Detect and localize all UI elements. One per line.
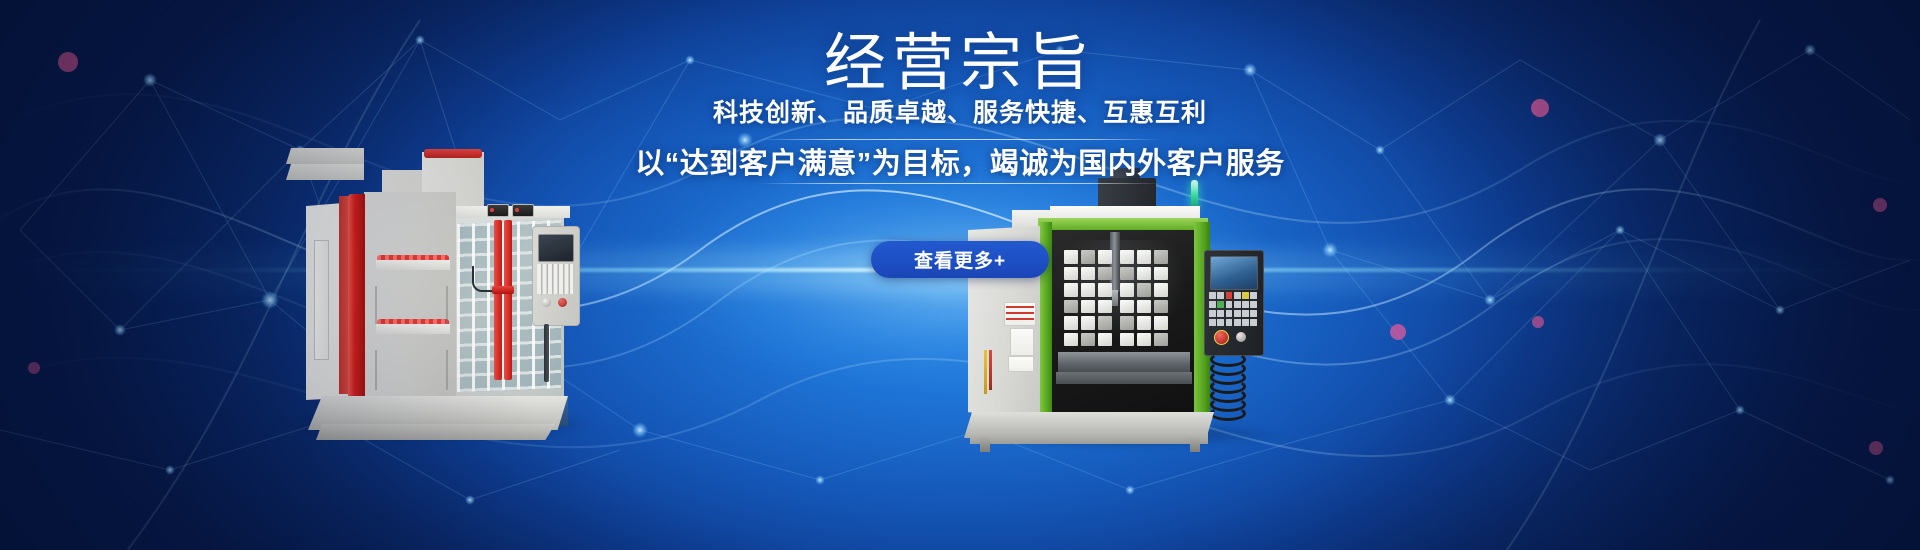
hero-banner: 经营宗旨 科技创新、品质卓越、服务快捷、互惠互利 以“达到客户满意”为目标，竭诚… — [0, 0, 1920, 550]
tool-cell — [1081, 250, 1095, 264]
tool-cell — [1064, 300, 1078, 314]
tool-cell — [1064, 333, 1078, 347]
machine-tool-rack-left — [1064, 250, 1112, 346]
keypad-key — [1209, 319, 1216, 326]
machine-enclosure-top — [452, 206, 570, 218]
tool-cell — [1081, 333, 1095, 347]
machine-panel-seam — [375, 350, 377, 390]
keypad-key — [1250, 310, 1257, 317]
tool-cell — [1137, 283, 1151, 297]
tool-cell — [1137, 250, 1151, 264]
tool-cell — [1137, 300, 1151, 314]
keypad-key — [1234, 301, 1241, 308]
tool-cell — [1120, 316, 1134, 330]
machine-warning-label-1 — [1004, 302, 1036, 326]
indicator-dot — [490, 208, 494, 212]
machine-base-plinth — [316, 424, 560, 440]
keypad-key — [1217, 310, 1224, 317]
tool-cell — [1098, 300, 1112, 314]
machine-front-face — [364, 192, 456, 398]
banner-title: 经营宗旨 — [660, 30, 1260, 98]
tool-cell — [1064, 267, 1078, 281]
machine-warning-label-2 — [1008, 356, 1034, 372]
machine-shelf-lower-front — [286, 164, 364, 180]
tool-cell — [1098, 333, 1112, 347]
keypad-key — [1217, 319, 1224, 326]
machine-green-frame-top — [1038, 218, 1208, 230]
tool-cell — [1137, 316, 1151, 330]
machine-emergency-stop — [558, 298, 567, 307]
tool-cell — [1081, 267, 1095, 281]
divider-top — [758, 139, 1162, 140]
tool-cell — [1081, 300, 1095, 314]
cnc-machine-green-black — [958, 174, 1288, 450]
machine-red-stripe — [348, 194, 365, 399]
machine-console-knob — [542, 298, 551, 307]
machine-indicator-badge-1 — [487, 204, 509, 217]
cnc-machine-white-red — [286, 148, 598, 450]
tool-cell — [1098, 316, 1112, 330]
machine-shelf-upper-front — [286, 148, 364, 164]
machine-console-screen — [538, 234, 574, 262]
machine-work-table — [1058, 352, 1190, 374]
machine-cable-yellow — [984, 350, 987, 394]
machine-cable-red — [989, 350, 992, 390]
tool-cell — [1154, 300, 1168, 314]
keypad-key — [1234, 310, 1241, 317]
keypad-key — [1217, 301, 1224, 308]
machine-panel-seam — [375, 286, 377, 324]
machine-spec-label — [1010, 328, 1034, 356]
machine-shelf-lower — [376, 324, 450, 334]
machine-emergency-stop — [1214, 330, 1229, 345]
tool-cell — [1064, 250, 1078, 264]
tool-cell — [1154, 283, 1168, 297]
tool-cell — [1120, 300, 1134, 314]
tool-cell — [1064, 316, 1078, 330]
tool-cell — [1154, 267, 1168, 281]
keypad-key — [1226, 301, 1233, 308]
tool-cell — [1120, 333, 1134, 347]
tool-cell — [1120, 283, 1134, 297]
keypad-key — [1226, 292, 1233, 299]
machine-door-handle — [492, 286, 514, 294]
keypad-key — [1226, 319, 1233, 326]
keypad-key — [1234, 319, 1241, 326]
keypad-key — [1209, 310, 1216, 317]
tool-cell — [1064, 283, 1078, 297]
keypad-key — [1209, 292, 1216, 299]
machine-base-plinth — [970, 432, 1208, 444]
keypad-key — [1209, 301, 1216, 308]
machine-leg — [1190, 438, 1200, 452]
keypad-key — [1250, 319, 1257, 326]
tool-cell — [1120, 250, 1134, 264]
machine-pendant-knob — [1236, 332, 1246, 342]
machine-panel-seam — [446, 286, 448, 324]
machine-console-keypad — [537, 264, 573, 294]
machine-console-arm — [544, 324, 549, 382]
machine-hook — [472, 266, 492, 292]
machine-door-rail-left — [494, 220, 502, 380]
divider-bottom — [758, 183, 1162, 184]
machine-spindle-tool — [1112, 290, 1118, 306]
tool-cell — [1154, 250, 1168, 264]
machine-indicator-badge-2 — [512, 204, 534, 217]
tool-cell — [1081, 316, 1095, 330]
machine-leg — [980, 438, 990, 452]
indicator-dot — [515, 208, 519, 212]
keypad-key — [1242, 310, 1249, 317]
tool-cell — [1120, 267, 1134, 281]
view-more-button[interactable]: 查看更多+ — [871, 241, 1049, 278]
machine-pendant-screen — [1210, 256, 1258, 290]
keypad-key — [1242, 319, 1249, 326]
machine-pendant-keypad — [1209, 292, 1257, 326]
tool-cell — [1137, 267, 1151, 281]
keypad-key — [1226, 310, 1233, 317]
tool-cell — [1098, 267, 1112, 281]
machine-tool-rack-right — [1120, 250, 1168, 346]
machine-work-table-front — [1056, 372, 1192, 384]
tool-cell — [1098, 283, 1112, 297]
tool-cell — [1154, 316, 1168, 330]
tool-cell — [1081, 283, 1095, 297]
tool-cell — [1098, 250, 1112, 264]
tool-cell — [1154, 333, 1168, 347]
machine-shelf-upper — [376, 260, 450, 270]
banner-subtitle: 科技创新、品质卓越、服务快捷、互惠互利 — [560, 96, 1360, 130]
machine-panel-seam — [446, 350, 448, 390]
keypad-key — [1242, 301, 1249, 308]
keypad-key — [1234, 292, 1241, 299]
machine-door-rail-right — [504, 220, 512, 380]
machine-coiled-cable — [1210, 350, 1254, 420]
keypad-key — [1242, 292, 1249, 299]
banner-tagline: 以“达到客户满意”为目标，竭诚为国内外客户服务 — [460, 144, 1460, 184]
machine-side-door — [314, 240, 329, 360]
tool-cell — [1137, 333, 1151, 347]
keypad-key — [1250, 292, 1257, 299]
keypad-key — [1250, 301, 1257, 308]
keypad-key — [1217, 292, 1224, 299]
